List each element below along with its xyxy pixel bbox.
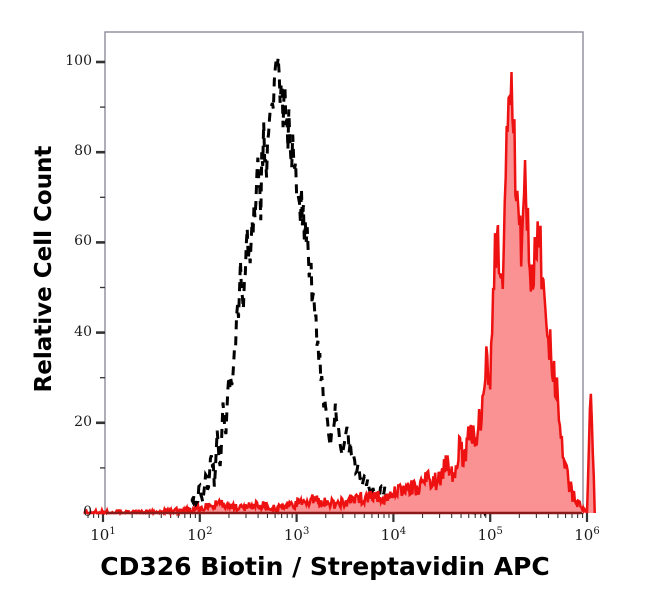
plot-canvas [0,0,650,598]
x-tick-label: 104 [363,526,423,544]
x-axis-title: CD326 Biotin / Streptavidin APC [0,552,650,581]
x-tick-label: 106 [557,526,617,544]
x-tick-label: 101 [73,526,133,544]
x-tick-label: 102 [170,526,230,544]
x-axis-ticks [88,513,587,522]
y-tick-label: 0 [40,504,92,520]
x-tick-label: 103 [267,526,327,544]
y-axis-ticks [96,62,105,513]
x-tick-label: 105 [460,526,520,544]
y-axis-title: Relative Cell Count [31,109,57,429]
flow-cytometry-histogram-figure: 020406080100 101102103104105106 Relative… [0,0,650,598]
y-tick-label: 100 [40,53,92,69]
